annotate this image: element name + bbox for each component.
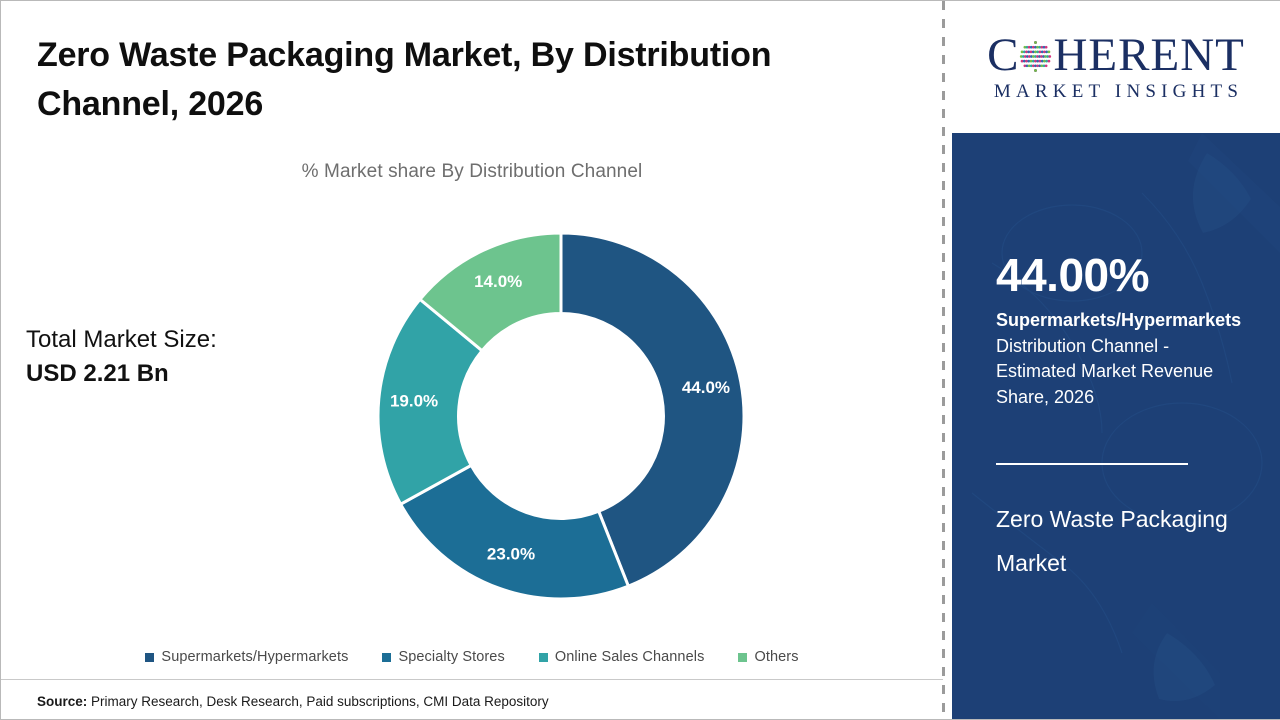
legend-swatch <box>145 653 154 662</box>
legend-item[interactable]: Online Sales Channels <box>539 649 705 665</box>
total-market-size-label: Total Market Size: <box>26 323 326 357</box>
infographic-slide: Zero Waste Packaging Market, By Distribu… <box>0 0 1280 720</box>
stat-panel: 44.00% Supermarkets/Hypermarkets Distrib… <box>952 133 1280 719</box>
donut-slice-label: 23.0% <box>487 544 535 563</box>
legend-label: Specialty Stores <box>398 649 504 665</box>
logo-tagline: MARKET INSIGHTS <box>989 81 1243 103</box>
stat-description-segment-name: Supermarkets/Hypermarkets <box>996 310 1241 330</box>
legend-item[interactable]: Others <box>738 649 798 665</box>
legend-item[interactable]: Supermarkets/Hypermarkets <box>145 649 348 665</box>
sidebar: C HERENT MARKET INSIGHTS <box>952 1 1280 719</box>
donut-chart: 44.0%23.0%19.0%14.0% <box>374 229 748 603</box>
stat-description: Supermarkets/Hypermarkets Distribution C… <box>996 308 1248 410</box>
legend-item[interactable]: Specialty Stores <box>382 649 504 665</box>
brand-logo: C HERENT MARKET INSIGHTS <box>952 1 1280 133</box>
logo-wordmark: C HERENT <box>987 32 1245 78</box>
donut-slice-group <box>378 233 744 599</box>
legend-label: Supermarkets/Hypermarkets <box>161 649 348 665</box>
donut-slice-label: 14.0% <box>474 272 522 291</box>
logo-letter-c: C <box>987 32 1019 78</box>
total-market-size-value: USD 2.21 Bn <box>26 357 326 391</box>
source-note: Source: Primary Research, Desk Research,… <box>37 694 549 709</box>
footer-divider <box>1 679 943 680</box>
source-label: Source: <box>37 694 87 709</box>
page-title: Zero Waste Packaging Market, By Distribu… <box>37 31 897 129</box>
stat-description-rest: Distribution Channel - Estimated Market … <box>996 336 1213 407</box>
vertical-dashed-divider <box>942 1 945 719</box>
donut-slice-label: 44.0% <box>682 378 730 397</box>
stat-panel-divider <box>996 463 1188 465</box>
legend-label: Others <box>754 649 798 665</box>
source-text: Primary Research, Desk Research, Paid su… <box>87 694 548 709</box>
chart-panel: Zero Waste Packaging Market, By Distribu… <box>1 1 943 719</box>
total-market-size-block: Total Market Size: USD 2.21 Bn <box>26 323 326 391</box>
legend-swatch <box>382 653 391 662</box>
legend-swatch <box>738 653 747 662</box>
market-name: Zero Waste Packaging Market <box>996 497 1246 585</box>
chart-subtitle: % Market share By Distribution Channel <box>1 161 943 183</box>
legend-swatch <box>539 653 548 662</box>
donut-chart-svg: 44.0%23.0%19.0%14.0% <box>374 229 748 603</box>
donut-slice-label: 19.0% <box>390 392 438 411</box>
legend-label: Online Sales Channels <box>555 649 705 665</box>
stat-value: 44.00% <box>996 251 1149 299</box>
logo-letters-herent: HERENT <box>1053 32 1244 78</box>
chart-legend: Supermarkets/HypermarketsSpecialty Store… <box>1 649 943 665</box>
dotted-globe-icon <box>1019 40 1052 73</box>
stat-panel-content: 44.00% Supermarkets/Hypermarkets Distrib… <box>996 133 1256 719</box>
